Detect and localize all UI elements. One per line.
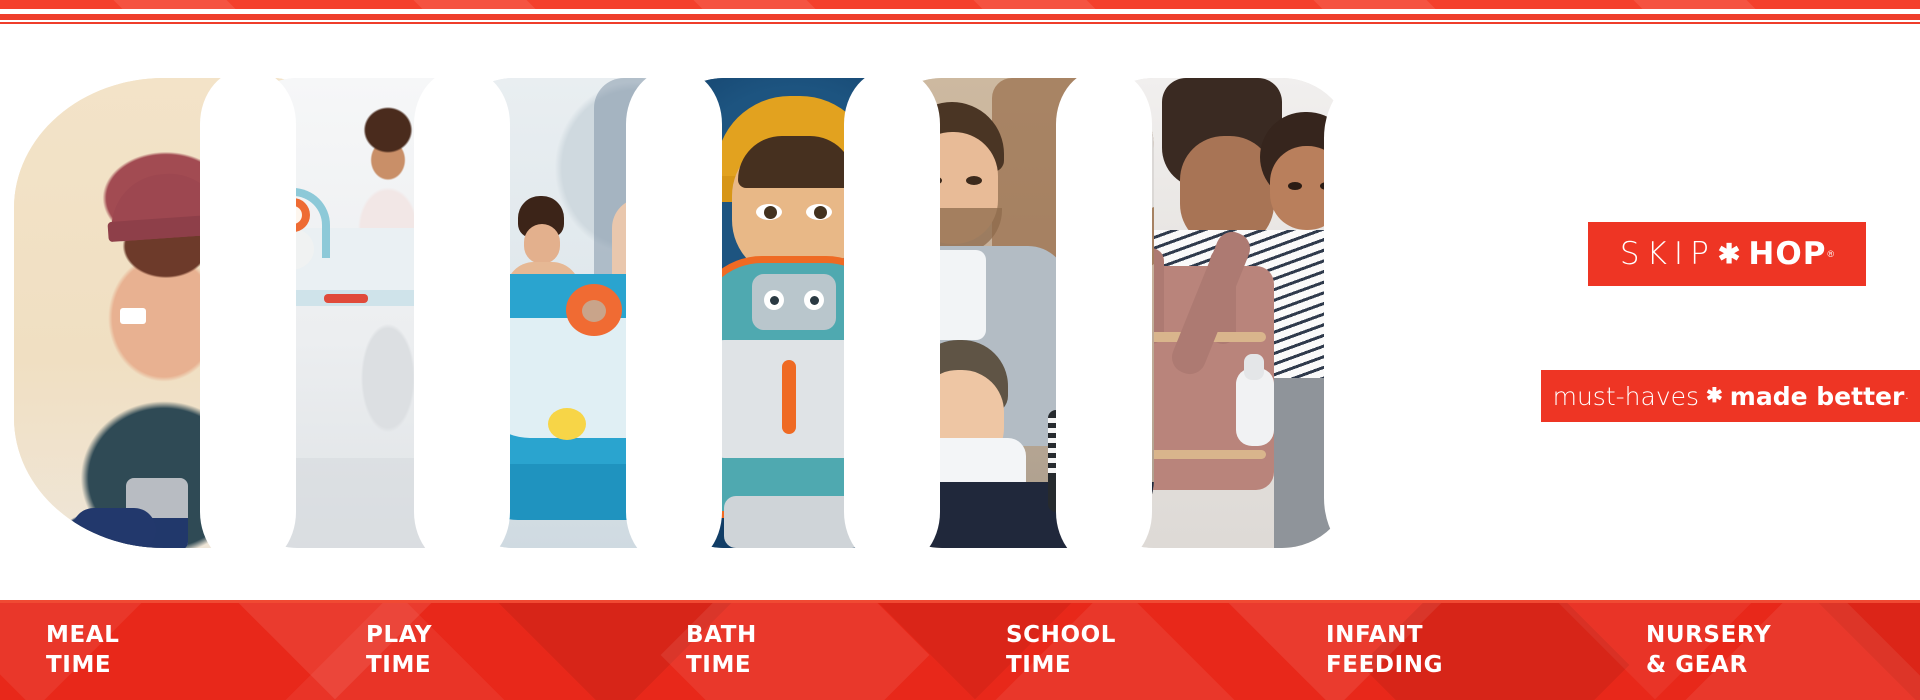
category-nav-bar: MEAL TIME PLAY TIME BATH TIME SCHOOL TIM…	[0, 600, 1920, 700]
nav-item-line2: TIME	[686, 650, 960, 680]
nav-item-line1: PLAY	[366, 620, 640, 650]
hero-photo-strip: SKIP✱HOP®	[0, 26, 1920, 600]
skip-hop-brand-banner: SKIP✱HOP® must-haves✱made better.	[0, 0, 1920, 700]
nav-item-bath-time[interactable]: BATH TIME	[640, 600, 960, 700]
logo-wordmark: SKIP✱HOP®	[1620, 239, 1834, 270]
photo-panels	[14, 78, 1544, 548]
nav-item-line2: TIME	[366, 650, 640, 680]
nav-item-meal-time[interactable]: MEAL TIME	[0, 600, 320, 700]
panel-separator	[200, 68, 296, 568]
nav-item-line1: INFANT	[1326, 620, 1600, 650]
tagline-part-two: made better	[1730, 384, 1905, 409]
nav-item-school-time[interactable]: SCHOOL TIME	[960, 600, 1280, 700]
brand-tagline-band: must-haves✱made better.	[1541, 370, 1920, 422]
top-red-hairline	[0, 22, 1920, 24]
logo-red-box: SKIP✱HOP®	[1588, 222, 1866, 286]
nav-item-line2: & GEAR	[1646, 650, 1920, 680]
logo-asterisk-icon: ✱	[1718, 241, 1746, 268]
panel-separator	[1324, 68, 1444, 568]
tagline-part-one: must-haves	[1553, 384, 1699, 409]
nav-item-line2: TIME	[1006, 650, 1280, 680]
panel-separator	[414, 68, 510, 568]
nav-item-line2: FEEDING	[1326, 650, 1600, 680]
panel-separator	[844, 68, 940, 568]
brand-tagline: must-haves✱made better.	[1553, 384, 1909, 409]
nav-item-line1: MEAL	[46, 620, 320, 650]
nav-item-line1: BATH	[686, 620, 960, 650]
tagline-period: .	[1905, 391, 1908, 402]
nav-item-infant-feeding[interactable]: INFANT FEEDING	[1280, 600, 1600, 700]
panel-separator	[626, 68, 722, 568]
logo-hop-text: HOP	[1748, 239, 1826, 270]
nav-item-nursery-gear[interactable]: NURSERY & GEAR	[1600, 600, 1920, 700]
brand-logo[interactable]: SKIP✱HOP®	[1588, 222, 1866, 286]
nav-item-line2: TIME	[46, 650, 320, 680]
nav-item-play-time[interactable]: PLAY TIME	[320, 600, 640, 700]
nav-item-line1: NURSERY	[1646, 620, 1920, 650]
panel-separator	[1056, 68, 1152, 568]
nav-item-list: MEAL TIME PLAY TIME BATH TIME SCHOOL TIM…	[0, 600, 1920, 700]
tagline-asterisk-icon: ✱	[1706, 386, 1723, 406]
top-red-band	[0, 0, 1920, 9]
registered-trademark-icon: ®	[1827, 250, 1834, 259]
logo-skip-text: SKIP	[1620, 239, 1716, 270]
nav-item-line1: SCHOOL	[1006, 620, 1280, 650]
